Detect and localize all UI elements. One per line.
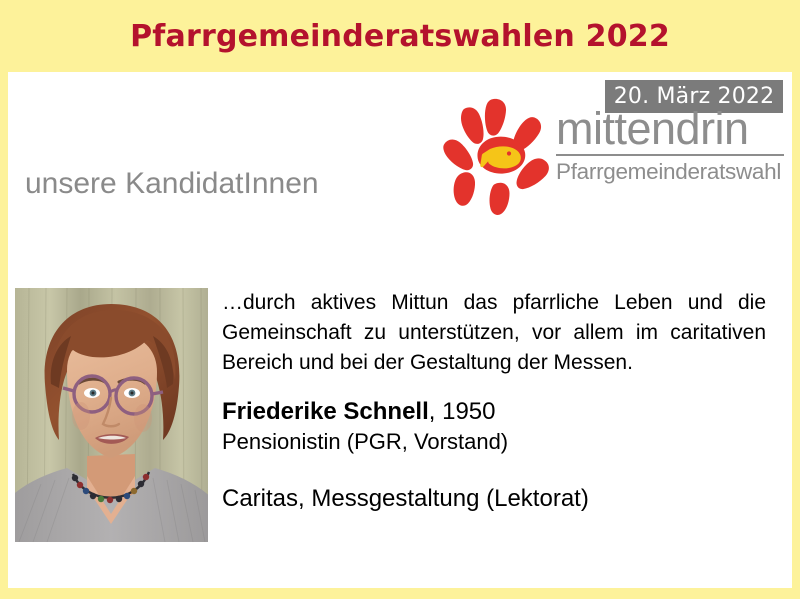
logo-wordmark: mittendrin: [556, 105, 788, 152]
logo-subtitle: Pfarrgemeinderatswahl: [556, 159, 788, 184]
candidate-birth-year: , 1950: [429, 398, 496, 425]
candidate-portrait-photo: [15, 288, 208, 542]
brand-logo: mittendrin Pfarrgemeinderatswahl: [428, 97, 788, 217]
page-title: Pfarrgemeinderatswahlen 2022: [130, 19, 670, 54]
header-band: Pfarrgemeinderatswahlen 2022: [0, 0, 800, 72]
logo-divider: [556, 154, 784, 156]
slide-root: Pfarrgemeinderatswahlen 2022 20. März 20…: [0, 0, 800, 599]
logo-wordmark-block: mittendrin Pfarrgemeinderatswahl: [556, 105, 788, 184]
content-card: 20. März 2022: [8, 72, 792, 588]
candidate-info: …durch aktives Mittun das pfarrliche Leb…: [222, 288, 772, 515]
flower-fish-icon: [436, 97, 556, 215]
candidate-name: Friederike Schnell: [222, 398, 429, 425]
candidate-quote: …durch aktives Mittun das pfarrliche Leb…: [222, 288, 766, 378]
candidate-fields: Caritas, Messgestaltung (Lektorat): [222, 483, 772, 515]
section-label-candidates: unsere KandidatInnen: [25, 167, 319, 201]
candidate-name-line: Friederike Schnell, 1950: [222, 396, 772, 427]
candidate-role: Pensionistin (PGR, Vorstand): [222, 427, 772, 457]
